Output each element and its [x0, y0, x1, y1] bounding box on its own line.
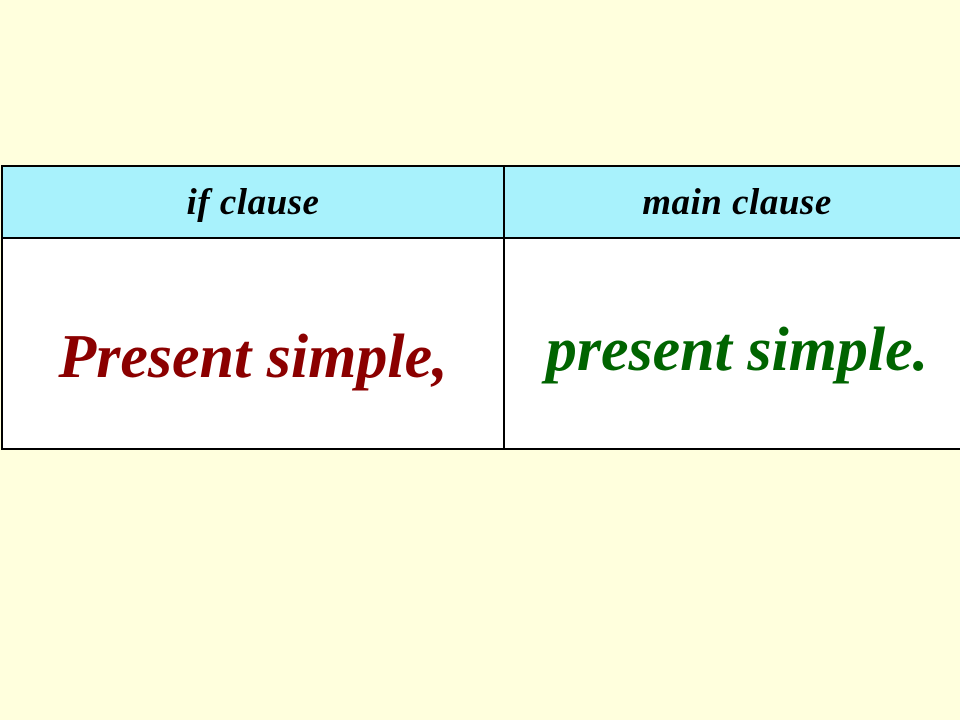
- header-label-main-clause: main clause: [505, 184, 960, 221]
- if-clause-tense-text: Present simple,: [3, 326, 503, 388]
- header-cell-if-clause: if clause: [2, 166, 504, 238]
- table-header-row: if clause main clause: [2, 166, 960, 238]
- main-clause-tense-text: present simple.: [505, 319, 960, 381]
- table-row: Present simple, present simple.: [2, 238, 960, 449]
- header-label-if-clause: if clause: [3, 184, 503, 221]
- body-cell-main-clause: present simple.: [504, 238, 960, 449]
- slide-canvas: if clause main clause Present simple, pr…: [0, 0, 960, 720]
- conditional-structure-table: if clause main clause Present simple, pr…: [1, 165, 960, 450]
- header-cell-main-clause: main clause: [504, 166, 960, 238]
- body-cell-if-clause: Present simple,: [2, 238, 504, 449]
